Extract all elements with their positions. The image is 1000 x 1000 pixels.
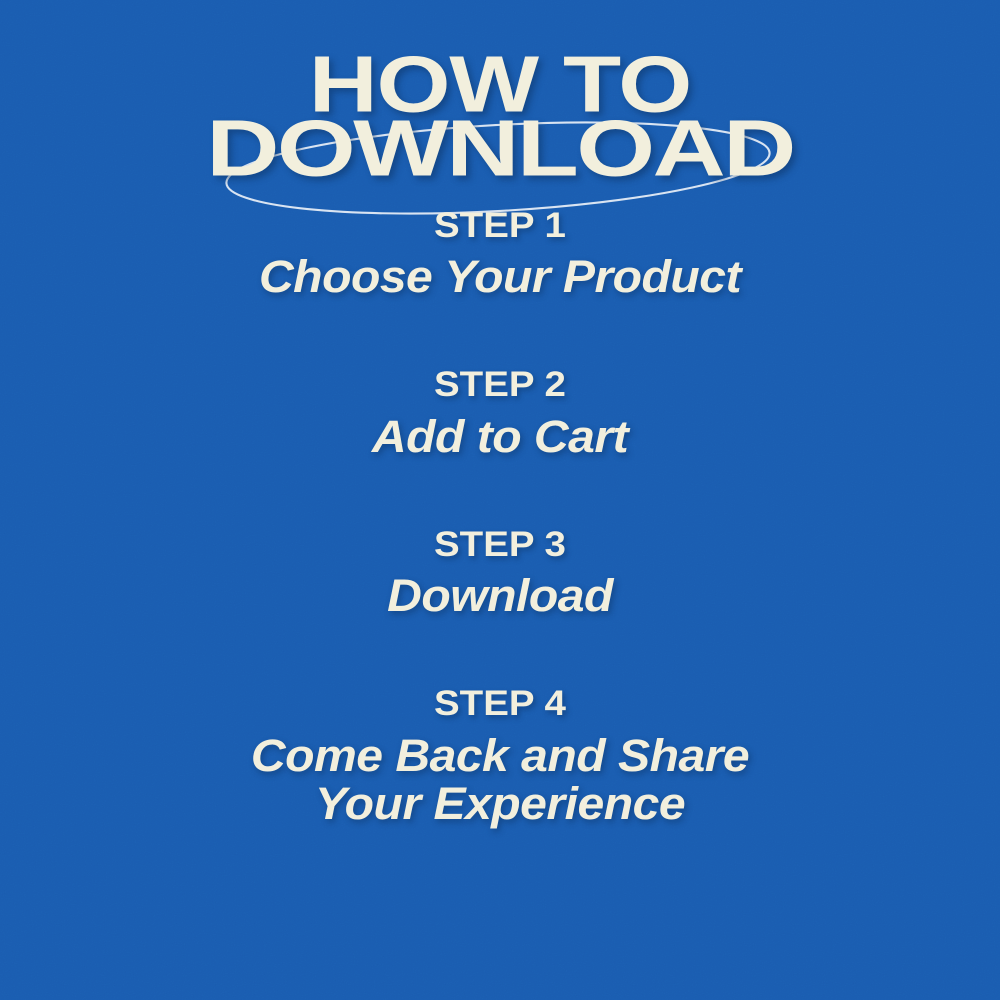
- step-description-2-line-1: Add to Cart: [0, 413, 1000, 461]
- how-to-download-poster: HOW TO DOWNLOAD STEP 1 Choose Your Produ…: [0, 0, 1000, 1000]
- step-label-3: STEP 3: [0, 524, 1000, 565]
- step-description-3: Download: [0, 572, 1000, 620]
- poster-title: HOW TO DOWNLOAD: [0, 34, 1000, 184]
- step-label-1: STEP 1: [0, 205, 1000, 246]
- step-block-1: STEP 1 Choose Your Product: [0, 205, 1000, 301]
- step-description-4-line-2: Your Experience: [0, 780, 1000, 828]
- step-label-2: STEP 2: [0, 364, 1000, 405]
- step-description-4-line-1: Come Back and Share: [0, 732, 1000, 780]
- step-block-3: STEP 3 Download: [0, 524, 1000, 620]
- step-description-2: Add to Cart: [0, 413, 1000, 461]
- step-label-4: STEP 4: [0, 683, 1000, 724]
- steps-list: STEP 1 Choose Your Product STEP 2 Add to…: [0, 205, 1000, 828]
- step-description-4: Come Back and Share Your Experience: [0, 732, 1000, 828]
- step-description-1-line-1: Choose Your Product: [0, 253, 1000, 301]
- step-block-2: STEP 2 Add to Cart: [0, 364, 1000, 460]
- step-description-1: Choose Your Product: [0, 253, 1000, 301]
- step-description-3-line-1: Download: [0, 572, 1000, 620]
- step-block-4: STEP 4 Come Back and Share Your Experien…: [0, 683, 1000, 828]
- title-line-download: DOWNLOAD: [0, 108, 1000, 188]
